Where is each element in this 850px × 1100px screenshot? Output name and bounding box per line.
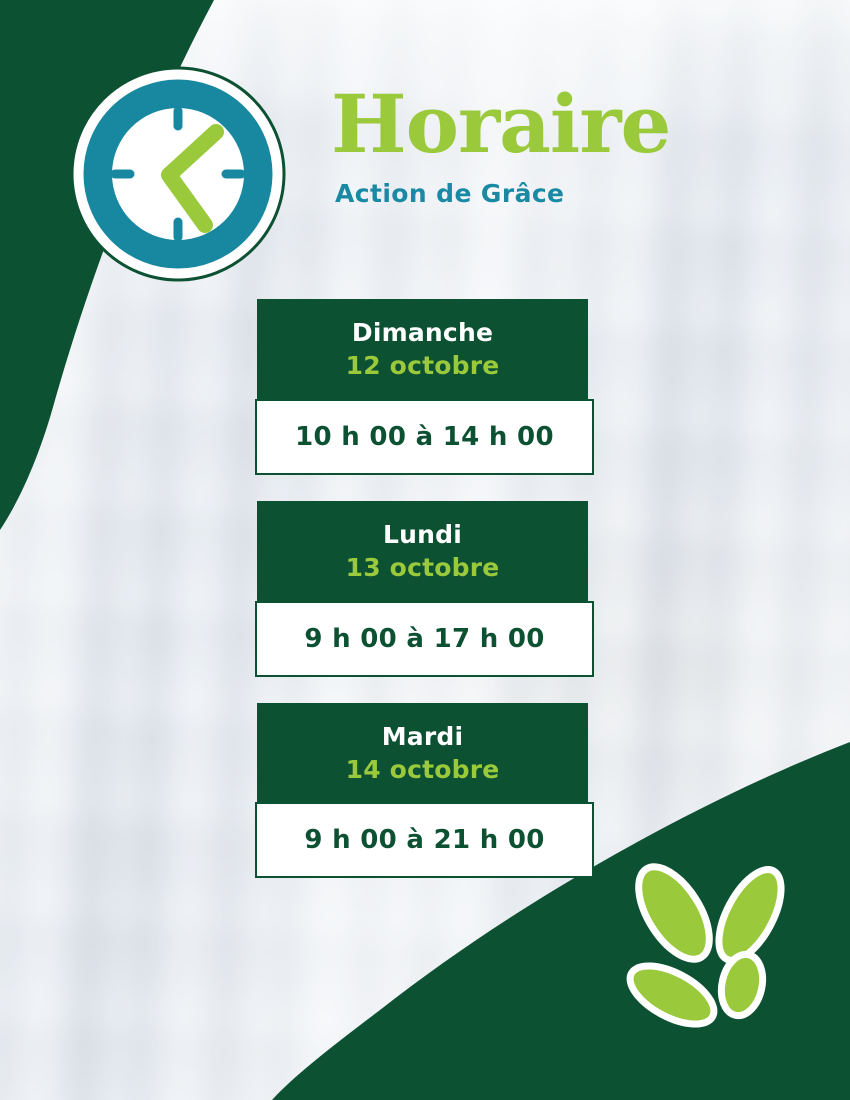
page-title: Horaire: [331, 86, 751, 163]
schedule-poster: Horaire Action de Grâce Dimanche 12 octo…: [0, 0, 850, 1100]
schedule-day: Dimanche: [267, 317, 578, 348]
butterfly-wing-top-left: [624, 855, 723, 971]
butterfly-wing-bottom-left: [621, 954, 723, 1036]
schedule-card-header: Lundi 13 octobre: [257, 501, 588, 601]
clock-icon: [68, 64, 288, 284]
schedule-date: 14 octobre: [267, 754, 578, 787]
schedule-hours: 9 h 00 à 17 h 00: [255, 601, 594, 677]
schedule-card-header: Dimanche 12 octobre: [257, 299, 588, 399]
schedule-card-header: Mardi 14 octobre: [257, 703, 588, 803]
schedule-day: Lundi: [267, 519, 578, 550]
schedule-card: Dimanche 12 octobre 10 h 00 à 14 h 00: [255, 299, 594, 475]
schedule-card: Lundi 13 octobre 9 h 00 à 17 h 00: [255, 501, 594, 677]
schedule-hours: 9 h 00 à 21 h 00: [255, 802, 594, 878]
butterfly-icon: [612, 855, 812, 1055]
schedule-card: Mardi 14 octobre 9 h 00 à 21 h 00: [255, 703, 594, 879]
schedule-date: 12 octobre: [267, 350, 578, 383]
schedule-hours: 10 h 00 à 14 h 00: [255, 399, 594, 475]
title-block: Horaire Action de Grâce: [331, 86, 751, 208]
page-subtitle: Action de Grâce: [335, 179, 751, 208]
schedule-day: Mardi: [267, 721, 578, 752]
schedule-list: Dimanche 12 octobre 10 h 00 à 14 h 00 Lu…: [255, 299, 594, 904]
schedule-date: 13 octobre: [267, 552, 578, 585]
